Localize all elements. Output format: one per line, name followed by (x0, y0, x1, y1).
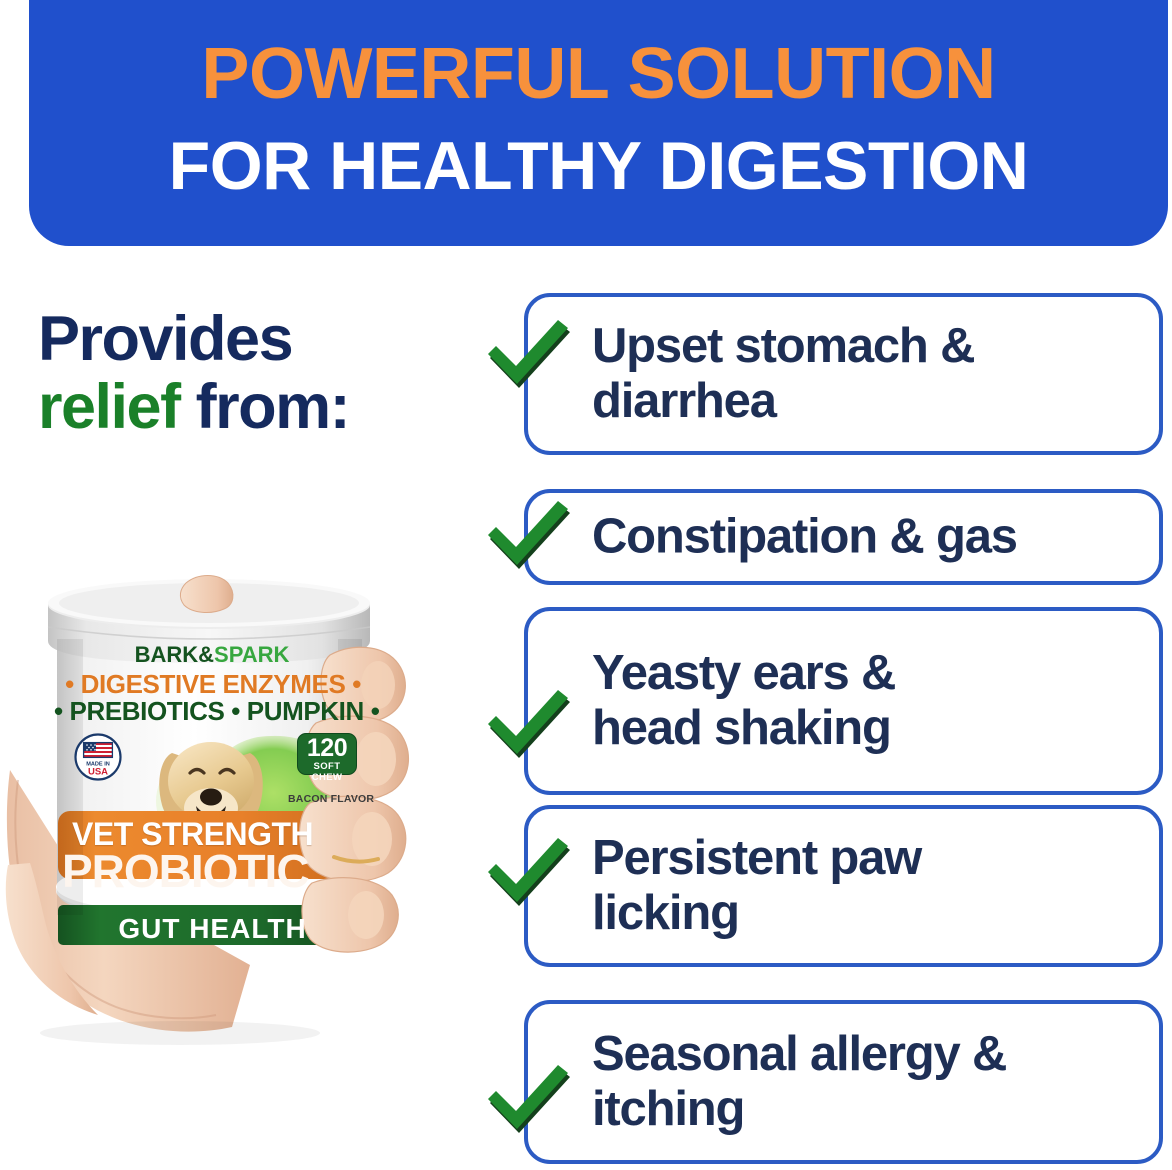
benefit-line-1: Persistent paw (592, 831, 921, 885)
brand-part-spark: SPARK (214, 642, 289, 667)
benefit-label: Persistent paw licking (592, 831, 1145, 941)
header-title-secondary: FOR HEALTHY DIGESTION (29, 132, 1168, 200)
benefit-line-2: head shaking (592, 701, 891, 755)
benefit-line-1: Upset stomach & (592, 319, 974, 373)
benefit-label: Constipation & gas (592, 510, 1145, 565)
serving-count-label: SOFT CHEW (298, 761, 356, 783)
benefit-line-2: licking (592, 886, 739, 940)
serving-count-badge: 120 SOFT CHEW (297, 733, 357, 775)
benefit-line-2: diarrhea (592, 374, 776, 428)
benefit-line-1: Constipation & gas (592, 510, 1017, 564)
page-title: Provides relief from: (38, 305, 478, 441)
check-icon (484, 828, 576, 920)
check-icon (484, 680, 576, 772)
benefit-line-1: Yeasty ears & (592, 646, 895, 700)
brand-part-bark: BARK& (135, 642, 214, 667)
benefit-item: Upset stomach & diarrhea (524, 293, 1163, 455)
benefit-item: Constipation & gas (524, 489, 1163, 585)
benefit-label: Seasonal allergy & itching (592, 1027, 1145, 1137)
product-name-label: PROBIOTIC (62, 846, 352, 896)
headline-word-provides: Provides (38, 304, 292, 374)
made-in-usa-badge: MADE IN USA (74, 733, 122, 781)
benefit-item: Persistent paw licking (524, 805, 1163, 967)
benefit-label: Upset stomach & diarrhea (592, 319, 1145, 429)
gut-health-label: GUT HEALTH (60, 913, 365, 945)
serving-count-number: 120 (298, 736, 356, 761)
svg-text:USA: USA (88, 767, 108, 778)
headline-word-relief: relief (38, 372, 180, 442)
check-icon (484, 1055, 576, 1147)
benefit-item: Yeasty ears & head shaking (524, 607, 1163, 795)
headline-word-from: from: (196, 372, 349, 442)
benefit-line-1: Seasonal allergy & (592, 1027, 1006, 1081)
brand-logo: BARK&SPARK (62, 642, 362, 668)
flavor-label: BACON FLAVOR (288, 793, 372, 805)
header-banner: POWERFUL SOLUTION FOR HEALTHY DIGESTION (29, 0, 1168, 246)
product-photo: BARK&SPARK • DIGESTIVE ENZYMES • • PREBI… (0, 565, 470, 1065)
ingredients-line-2: • PREBIOTICS • PUMPKIN • (54, 696, 372, 727)
check-icon (484, 310, 576, 402)
check-icon (484, 491, 576, 583)
jar-label-text-layer: BARK&SPARK • DIGESTIVE ENZYMES • • PREBI… (0, 565, 470, 1065)
benefit-label: Yeasty ears & head shaking (592, 646, 1145, 756)
benefit-line-2: itching (592, 1082, 744, 1136)
benefit-item: Seasonal allergy & itching (524, 1000, 1163, 1164)
header-title-primary: POWERFUL SOLUTION (29, 38, 1168, 110)
